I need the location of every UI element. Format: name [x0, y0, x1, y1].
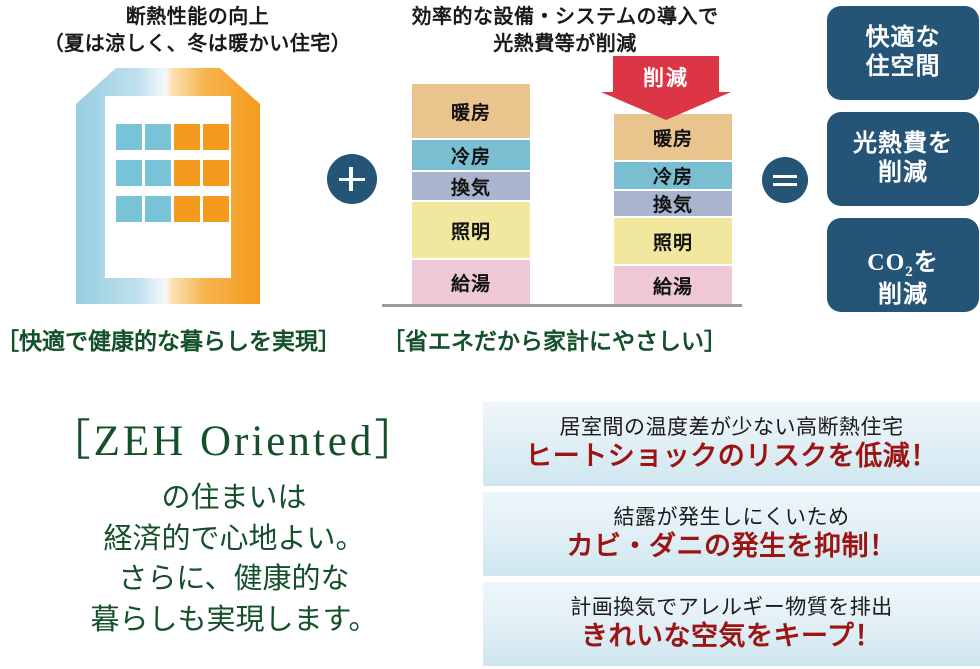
bar-segment-ventilation: 換気 [412, 172, 530, 200]
benefit-maintext: カビ・ダニの発生を抑制！ [567, 531, 897, 562]
plus-icon [327, 154, 377, 204]
caption-energy-saving: ［省エネだから家計にやさしい］ [382, 322, 727, 356]
bar-segment-hotwater: 給湯 [412, 260, 530, 304]
co2-prefix: CO [867, 250, 905, 276]
house-icon [68, 66, 268, 304]
reduction-arrow-label: 削減 [601, 62, 731, 92]
bar-segment-hotwater: 給湯 [614, 266, 732, 304]
benefit-box-mold: 結露が発生しにくいため カビ・ダニの発生を抑制！ [483, 492, 980, 576]
benefit-subtext: 結露が発生しにくいため [613, 506, 849, 529]
equals-icon [762, 157, 808, 203]
benefit-maintext: ヒートショックのリスクを低減！ [525, 441, 938, 472]
result-pill-comfort: 快適な 住空間 [827, 6, 979, 100]
co2-subscript: 2 [905, 264, 914, 280]
chart-baseline [382, 304, 742, 307]
plus-glyph [338, 165, 366, 193]
benefit-box-air: 計画換気でアレルギー物質を排出 きれいな空気をキープ！ [483, 582, 980, 666]
benefit-subtext: 居室間の温度差が少ない高断熱住宅 [560, 416, 904, 439]
result-pill-co2: CO2を 削減 [827, 218, 979, 312]
bar-segment-heating: 暖房 [412, 84, 530, 138]
benefit-subtext: 計画換気でアレルギー物質を排出 [570, 596, 893, 619]
heading-equipment: 効率的な設備・システムの導入で 光熱費等が削減 [380, 4, 750, 58]
bar-segment-cooling: 冷房 [412, 140, 530, 170]
caption-healthy-living: ［快適で健康的な暮らしを実現］ [0, 322, 341, 356]
bar-stack-after: 暖房 冷房 換気 照明 給湯 [614, 114, 732, 304]
benefit-box-heatshock: 居室間の温度差が少ない高断熱住宅 ヒートショックのリスクを低減！ [483, 402, 980, 486]
reduction-arrow-icon: 削減 [601, 56, 731, 120]
bar-segment-heating: 暖房 [614, 114, 732, 160]
bar-stack-before: 暖房 冷房 換気 照明 給湯 [412, 84, 530, 304]
bar-segment-ventilation: 換気 [614, 191, 732, 216]
bar-segment-lighting: 照明 [412, 202, 530, 258]
result-pill-utility-cost: 光熱費を 削減 [827, 112, 979, 206]
equals-glyph [771, 166, 799, 194]
zeh-oriented-title: ［ZEH Oriented］ [4, 406, 464, 468]
infographic-root: 断熱性能の向上 （夏は涼しく、冬は暖かい住宅） 効率的な設備・システムの導入で … [0, 0, 980, 669]
zeh-oriented-body: の住まいは 経済的で心地よい。 さらに、健康的な 暮らしも実現します。 [4, 478, 464, 640]
result-pill-co2-text: CO2を 削減 [867, 220, 939, 311]
benefit-maintext: きれいな空気をキープ！ [581, 621, 882, 652]
bar-segment-cooling: 冷房 [614, 162, 732, 189]
bar-segment-lighting: 照明 [614, 218, 732, 264]
heading-insulation: 断熱性能の向上 （夏は涼しく、冬は暖かい住宅） [0, 4, 395, 58]
